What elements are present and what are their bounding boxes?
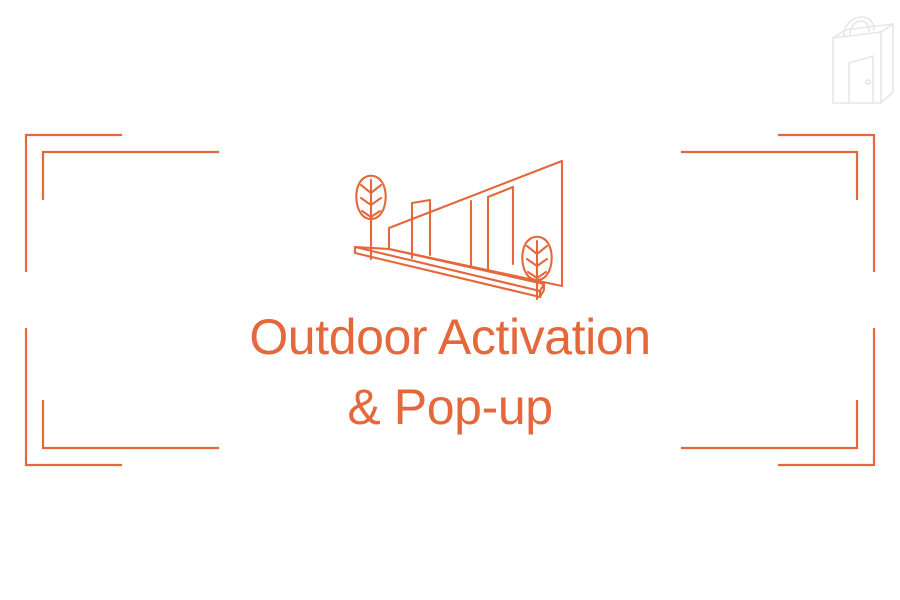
corner-frame-top-right-outer [778, 135, 874, 272]
corner-frames [0, 0, 900, 600]
doorway-left [412, 200, 430, 258]
bag-door-knob [866, 80, 870, 84]
slide-title-line-1: Outdoor Activation [0, 302, 900, 372]
bag-top-opening [833, 24, 893, 38]
outdoor-storefront-illustration [325, 152, 577, 300]
bag-side-face [881, 24, 893, 103]
deck-platform-top [355, 247, 544, 291]
doorway-right [488, 187, 513, 270]
shopping-bag-icon [824, 8, 896, 108]
corner-frame-top-right-inner [681, 152, 857, 200]
slide-title-line-2: & Pop-up [0, 372, 900, 442]
slide-title: Outdoor Activation & Pop-up [0, 302, 900, 442]
corner-frame-top-left-inner [43, 152, 219, 200]
slide-canvas: Outdoor Activation & Pop-up [0, 0, 900, 600]
bag-door-shape [849, 56, 873, 103]
corner-frame-top-left-outer [26, 135, 122, 272]
